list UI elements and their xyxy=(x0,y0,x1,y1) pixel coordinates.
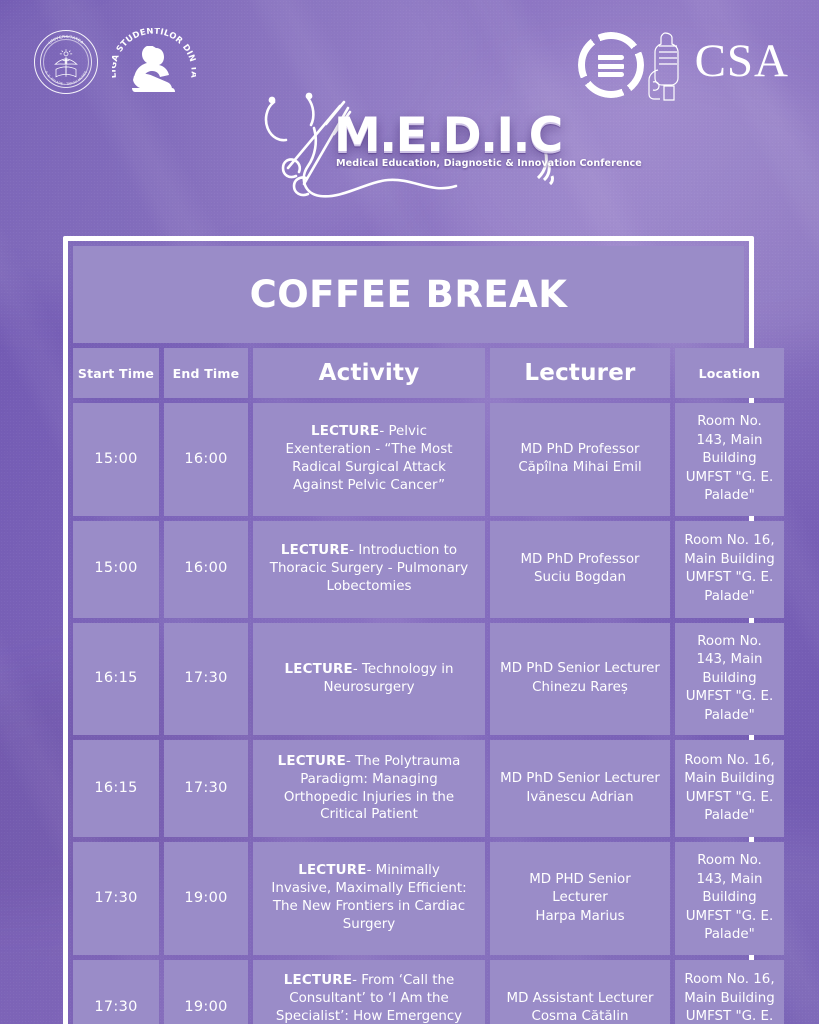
medic-logo: M.E.D.I.C Medical Education, Diagnostic … xyxy=(248,84,578,204)
table-body: 15:0016:00LECTURE- Pelvic Exenteration -… xyxy=(73,403,784,1024)
cell-lecturer: MD PhD Senior LecturerChinezu Rareș xyxy=(490,623,670,736)
table-row: 16:1517:30LECTURE- The Polytrauma Paradi… xyxy=(73,740,784,837)
seal-ring-text: UNIVERSITATEA G. E. PALADE · TÂRGU MUREȘ xyxy=(34,30,98,94)
liga-studentilor-logo-icon: LIGA STUDENTILOR DIN TÂRGU MUREȘ xyxy=(112,28,196,108)
activity-label: LECTURE xyxy=(285,662,353,677)
cell-location: Room No. 16, Main Building UMFST "G. E. … xyxy=(675,960,784,1024)
cell-location: Room No. 143, Main Building UMFST "G. E.… xyxy=(675,842,784,955)
umfst-seal-logo-icon: UNIVERSITATEA G. E. PALADE · TÂRGU MUREȘ xyxy=(34,30,98,94)
csa-bars-icon xyxy=(598,55,624,75)
board-title-block: COFFEE BREAK xyxy=(73,246,744,343)
table-head: Start Time End Time Activity Lecturer Lo… xyxy=(73,348,784,398)
svg-text:UNIVERSITATEA: UNIVERSITATEA xyxy=(47,34,84,45)
cell-activity: LECTURE- The Polytrauma Paradigm: Managi… xyxy=(253,740,485,837)
cell-activity: LECTURE- Minimally Invasive, Maximally E… xyxy=(253,842,485,955)
csa-figure-icon xyxy=(645,30,691,102)
schedule-board: COFFEE BREAK Start Time End Time Activit… xyxy=(63,236,754,1024)
table-row: 17:3019:00LECTURE- From ‘Call the Consul… xyxy=(73,960,784,1024)
activity-label: LECTURE xyxy=(284,973,352,988)
cell-location: Room No. 16, Main Building UMFST "G. E. … xyxy=(675,521,784,618)
cell-lecturer: MD PhD Senior LecturerIvănescu Adrian xyxy=(490,740,670,837)
cell-location: Room No. 143, Main Building UMFST "G. E.… xyxy=(675,403,784,516)
cell-activity: LECTURE- From ‘Call the Consultant’ to ‘… xyxy=(253,960,485,1024)
column-header-end-time: End Time xyxy=(164,348,248,398)
cell-lecturer: MD PhD ProfessorSuciu Bogdan xyxy=(490,521,670,618)
page-title: COFFEE BREAK xyxy=(250,273,568,316)
cell-end-time: 16:00 xyxy=(164,521,248,618)
liga-figure-icon xyxy=(126,46,182,98)
cell-start-time: 17:30 xyxy=(73,842,159,955)
cell-end-time: 19:00 xyxy=(164,842,248,955)
column-header-activity: Activity xyxy=(253,348,485,398)
cell-lecturer: MD Assistant LecturerCosma Cătălin xyxy=(490,960,670,1024)
column-header-lecturer: Lecturer xyxy=(490,348,670,398)
column-header-start-time: Start Time xyxy=(73,348,159,398)
table-row: 17:3019:00LECTURE- Minimally Invasive, M… xyxy=(73,842,784,955)
csa-emblem-icon xyxy=(578,32,644,98)
cell-start-time: 15:00 xyxy=(73,403,159,516)
activity-label: LECTURE xyxy=(278,754,346,769)
table-row: 15:0016:00LECTURE- Introduction to Thora… xyxy=(73,521,784,618)
table-row: 16:1517:30LECTURE- Technology in Neurosu… xyxy=(73,623,784,736)
activity-label: LECTURE xyxy=(281,543,349,558)
cell-lecturer: MD PHD SeniorLecturerHarpa Marius xyxy=(490,842,670,955)
cell-location: Room No. 143, Main Building UMFST "G. E.… xyxy=(675,623,784,736)
svg-text:G. E. PALADE · TÂRGU MUREȘ: G. E. PALADE · TÂRGU MUREȘ xyxy=(44,70,88,86)
cell-end-time: 16:00 xyxy=(164,403,248,516)
activity-label: LECTURE xyxy=(298,863,366,878)
schedule-table: Start Time End Time Activity Lecturer Lo… xyxy=(68,343,789,1024)
table-row: 15:0016:00LECTURE- Pelvic Exenteration -… xyxy=(73,403,784,516)
cell-start-time: 16:15 xyxy=(73,623,159,736)
medic-wordmark: M.E.D.I.C xyxy=(334,112,562,159)
cell-activity: LECTURE- Technology in Neurosurgery xyxy=(253,623,485,736)
cell-start-time: 15:00 xyxy=(73,521,159,618)
cell-lecturer: MD PhD ProfessorCăpîlna Mihai Emil xyxy=(490,403,670,516)
cell-end-time: 19:00 xyxy=(164,960,248,1024)
column-header-location: Location xyxy=(675,348,784,398)
cell-activity: LECTURE- Introduction to Thoracic Surger… xyxy=(253,521,485,618)
cell-start-time: 16:15 xyxy=(73,740,159,837)
cell-location: Room No. 16, Main Building UMFST "G. E. … xyxy=(675,740,784,837)
cell-activity: LECTURE- Pelvic Exenteration - “The Most… xyxy=(253,403,485,516)
activity-label: LECTURE xyxy=(311,424,379,439)
csa-wordmark: CSA xyxy=(695,38,789,85)
medic-tagline: Medical Education, Diagnostic & Innovati… xyxy=(336,158,642,169)
cell-start-time: 17:30 xyxy=(73,960,159,1024)
poster-header: UNIVERSITATEA G. E. PALADE · TÂRGU MUREȘ… xyxy=(0,0,819,232)
cell-end-time: 17:30 xyxy=(164,740,248,837)
cell-end-time: 17:30 xyxy=(164,623,248,736)
table-header-row: Start Time End Time Activity Lecturer Lo… xyxy=(73,348,784,398)
